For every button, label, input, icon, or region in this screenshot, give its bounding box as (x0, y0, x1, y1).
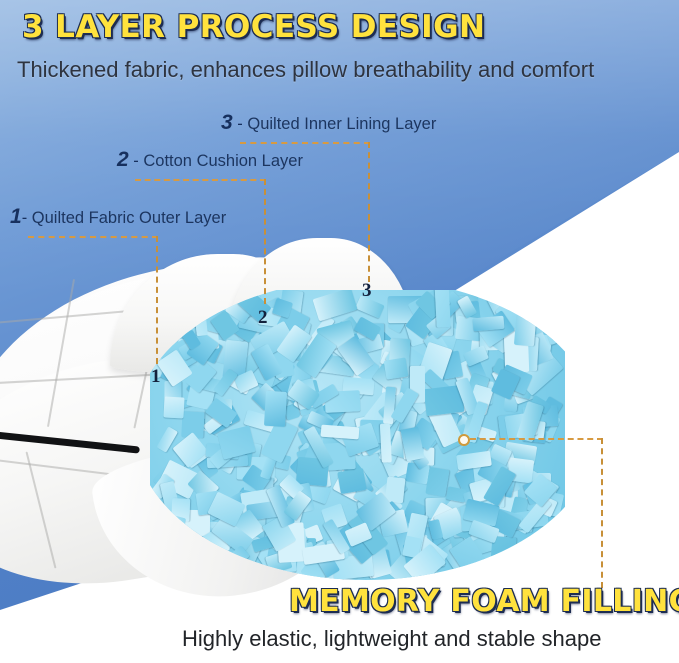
footer-subtitle: Highly elastic, lightweight and stable s… (182, 626, 601, 652)
callout-number-1: 1 (10, 205, 22, 228)
page-subtitle: Thickened fabric, enhances pillow breath… (17, 57, 594, 83)
foam-chip (163, 396, 184, 418)
pillow-marker-2: 2 (258, 307, 268, 329)
foam-chip (320, 424, 359, 439)
callout-label-3: 3 - Quilted Inner Lining Layer (221, 111, 436, 135)
memory-foam-fill (150, 290, 565, 580)
product-infographic: 3 LAYER PROCESS DESIGN Thickened fabric,… (0, 0, 679, 663)
foam-chip (425, 467, 449, 497)
foam-marker-dot (458, 434, 470, 446)
callout-label-2: 2 - Cotton Cushion Layer (117, 148, 303, 172)
callout-label-1: 1- Quilted Fabric Outer Layer (10, 205, 226, 229)
callout-text-1: Quilted Fabric Outer Layer (27, 209, 226, 227)
pillow-marker-3: 3 (362, 280, 372, 302)
pillow-marker-1: 1 (151, 366, 161, 388)
callout-number-3: 3 (221, 111, 233, 134)
page-title: 3 LAYER PROCESS DESIGN (22, 9, 485, 45)
foam-chip (472, 316, 504, 332)
footer-title: MEMORY FOAM FILLING (289, 584, 679, 619)
foam-chip (337, 468, 367, 495)
foam-chip (384, 476, 405, 502)
callout-number-2: 2 (117, 148, 129, 171)
foam-chip (434, 290, 450, 328)
foam-chip (379, 423, 391, 463)
callout-text-3: Quilted Inner Lining Layer (243, 115, 437, 133)
foam-chip (383, 357, 408, 379)
callout-text-2: Cotton Cushion Layer (139, 152, 303, 170)
foam-chip (264, 391, 287, 427)
